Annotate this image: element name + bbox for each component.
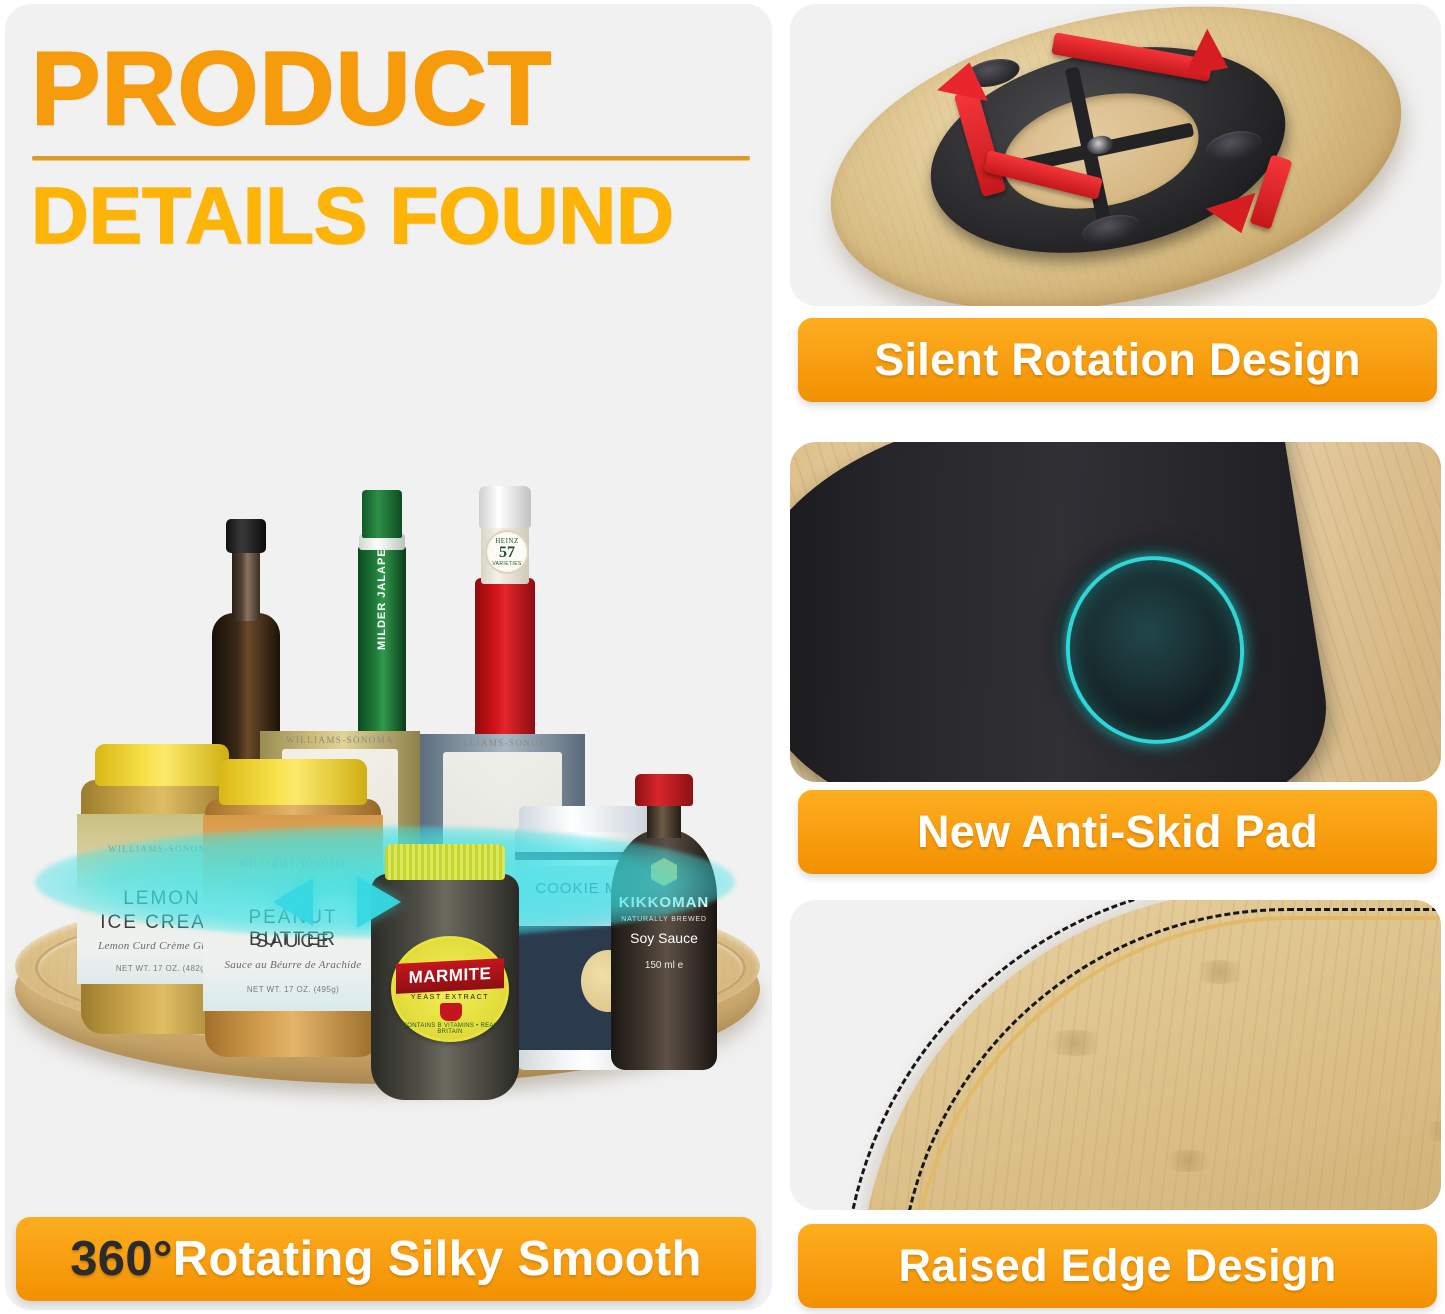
bottle-neck	[647, 802, 681, 838]
headline-block: PRODUCT DETAILS FOUND	[31, 42, 751, 256]
marmite-brand: MARMITE	[409, 964, 492, 988]
heinz-badge: HEINZ 57 VARIETIES	[485, 530, 529, 574]
banner-degree-label: 360°	[70, 1232, 173, 1286]
banner-360-rotating: 360°Rotating Silky Smooth	[16, 1217, 756, 1301]
banner-middle-right-text: New Anti-Skid Pad	[917, 806, 1318, 858]
banner-left-rest: Rotating Silky Smooth	[173, 1232, 702, 1286]
bottle-cap	[226, 519, 266, 553]
panel-raised-edge	[790, 900, 1441, 1210]
rotation-arrow-left-icon	[273, 878, 313, 926]
banner-top-right-text: Silent Rotation Design	[874, 334, 1361, 386]
tin-brand: WILLIAMS-SONOMA	[420, 738, 585, 748]
raised-edge-outline-inner	[898, 908, 1441, 1210]
bottle-cap	[635, 774, 693, 806]
bottle-neck	[232, 541, 260, 621]
bottle-cap	[362, 490, 402, 538]
banner-anti-skid-pad: New Anti-Skid Pad	[798, 790, 1437, 874]
marmite-claim: CONTAINS B VITAMINS • REAL BRITAIN	[394, 1023, 506, 1035]
bottle-cap	[479, 486, 531, 528]
hero-product-photo: MILDER JALAPEÑO HEINZ 57 VARIETIES	[5, 394, 772, 1194]
panel-silent-rotation	[790, 4, 1441, 306]
tabasco-variant-label: MILDER JALAPEÑO	[376, 602, 388, 650]
panel-main-product: PRODUCT DETAILS FOUND	[5, 4, 772, 1310]
panel-anti-skid-inner	[790, 442, 1441, 782]
panel-main-inner: PRODUCT DETAILS FOUND	[5, 4, 772, 1310]
jar-lid	[219, 759, 367, 805]
marmite-label: MARMITE YEAST EXTRACT CONTAINS B VITAMIN…	[391, 936, 509, 1042]
kikkoman-product-label: Soy Sauce	[611, 930, 717, 946]
tin-brand: WILLIAMS-SONOMA	[260, 735, 420, 745]
banner-bottom-right-text: Raised Edge Design	[898, 1240, 1336, 1292]
headline-main: PRODUCT	[31, 42, 751, 138]
jar-lid	[385, 844, 505, 880]
banner-raised-edge: Raised Edge Design	[798, 1224, 1437, 1308]
panel-silent-rotation-inner	[790, 4, 1441, 306]
rotation-arrow-right-icon	[357, 876, 401, 928]
jar-net-weight: NET WT. 17 OZ. (495g)	[203, 985, 383, 994]
kikkoman-soy-sauce-bottle: KIKKOMAN NATURALLY BREWED Soy Sauce 150 …	[611, 774, 717, 1074]
headline-sub: DETAILS FOUND	[31, 176, 751, 256]
banner-left-text: 360°Rotating Silky Smooth	[70, 1231, 702, 1287]
marmite-pot-icon	[440, 1003, 462, 1021]
headline-divider	[32, 156, 750, 160]
panel-raised-edge-inner	[790, 900, 1441, 1210]
marmite-banner: MARMITE	[396, 958, 504, 994]
jar-subtitle: Sauce au Béurre de Arachide	[203, 959, 383, 971]
infographic-stage: PRODUCT DETAILS FOUND	[0, 0, 1445, 1314]
panel-anti-skid-pad	[790, 442, 1441, 782]
heinz-varieties: VARIETIES	[492, 561, 521, 567]
heinz-number: 57	[499, 545, 515, 561]
marmite-subtitle: YEAST EXTRACT	[394, 994, 506, 1001]
kikkoman-volume: 150 ml e	[611, 960, 717, 971]
banner-silent-rotation: Silent Rotation Design	[798, 318, 1437, 402]
